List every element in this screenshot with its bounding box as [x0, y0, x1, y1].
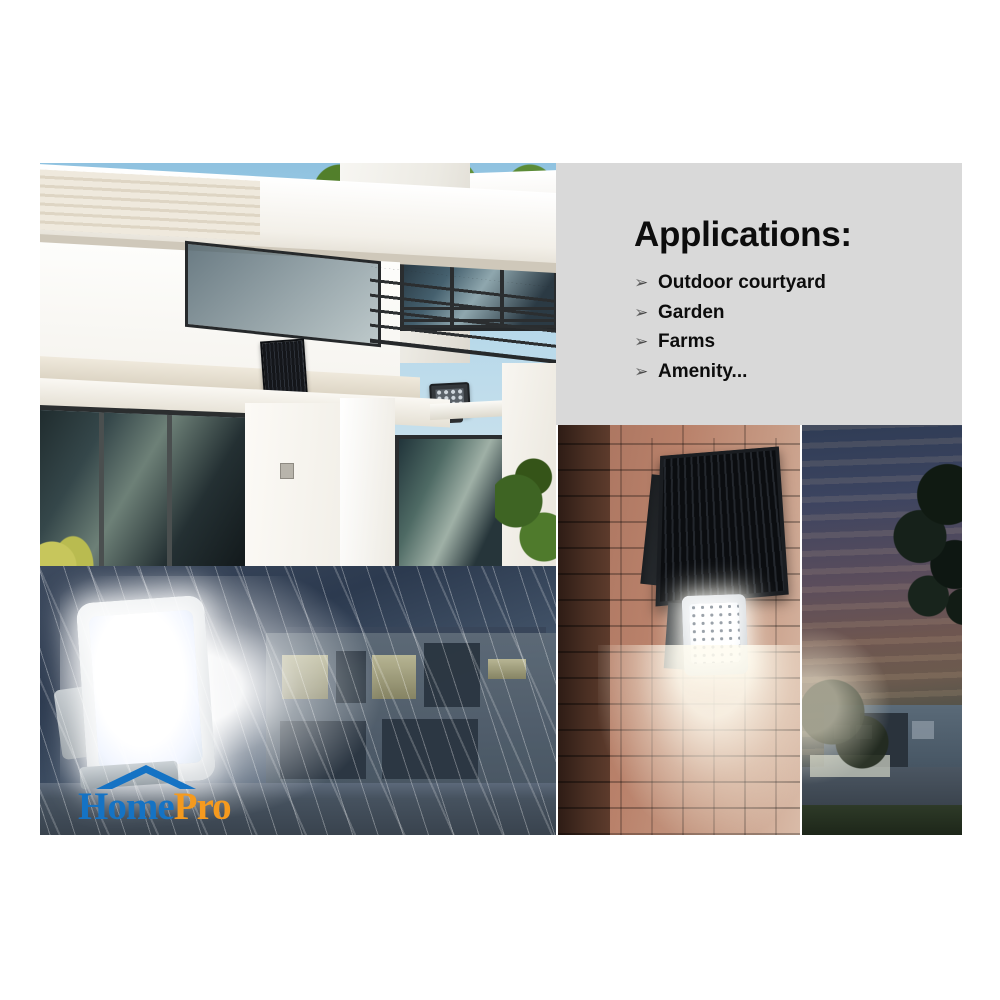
- list-item-label: Garden: [658, 298, 725, 328]
- night-house: [266, 633, 556, 783]
- image-collage: Applications: ➢ Outdoor courtyard ➢ Gard…: [40, 163, 962, 835]
- house-window: [282, 655, 328, 699]
- list-item-label: Farms: [658, 327, 715, 357]
- tall-window: [395, 435, 508, 566]
- garage-door: [382, 719, 478, 779]
- arrow-bullet-icon: ➢: [634, 327, 658, 357]
- floodlight-lens: [89, 610, 203, 770]
- light-glow: [598, 645, 800, 835]
- list-item-label: Outdoor courtyard: [658, 268, 826, 298]
- applications-panel: Applications: ➢ Outdoor courtyard ➢ Gard…: [556, 163, 962, 425]
- list-item: ➢ Farms: [634, 327, 826, 357]
- solar-panel-icon: [656, 446, 789, 606]
- photo-brick-wall-light: [558, 425, 800, 835]
- louvre-screen: [40, 169, 260, 241]
- brand-logo[interactable]: HomePro: [78, 765, 230, 827]
- list-item: ➢ Outdoor courtyard: [634, 268, 826, 298]
- light-glow: [802, 625, 892, 785]
- list-item: ➢ Amenity...: [634, 357, 826, 387]
- applications-heading: Applications:: [634, 215, 852, 255]
- background-trees: [495, 453, 556, 566]
- arrow-bullet-icon: ➢: [634, 298, 658, 328]
- list-item: ➢ Garden: [634, 298, 826, 328]
- house-window: [372, 655, 416, 699]
- arrow-bullet-icon: ➢: [634, 268, 658, 298]
- wall-column: [340, 398, 395, 566]
- brand-wordmark: HomePro: [78, 787, 230, 827]
- foreground-tree: [854, 463, 962, 638]
- led-floodlight-fixture: [76, 595, 217, 788]
- arrow-bullet-icon: ➢: [634, 357, 658, 387]
- door-mullion: [167, 415, 172, 566]
- house-window-dark: [424, 643, 480, 707]
- house-window: [912, 721, 934, 739]
- photo-dusk-street: [802, 425, 962, 835]
- brand-name-primary: Home: [78, 785, 174, 828]
- house-window: [488, 659, 526, 679]
- ornamental-grass: [40, 518, 100, 566]
- wall-lamp: [280, 463, 294, 479]
- street-lawn: [802, 805, 962, 835]
- applications-list: ➢ Outdoor courtyard ➢ Garden ➢ Farms ➢ A…: [634, 268, 826, 386]
- list-item-label: Amenity...: [658, 357, 747, 387]
- garage-door: [280, 721, 366, 779]
- photo-modern-house: [40, 163, 556, 566]
- brand-name-secondary: Pro: [174, 785, 231, 828]
- slide-canvas: Applications: ➢ Outdoor courtyard ➢ Gard…: [0, 0, 1000, 1000]
- house-window-dark: [336, 651, 366, 703]
